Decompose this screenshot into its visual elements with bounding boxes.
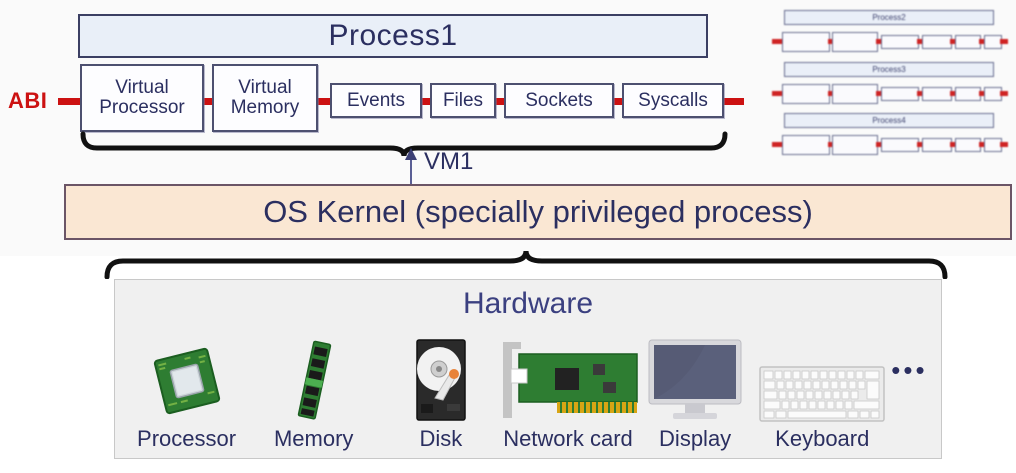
mini-component <box>881 35 919 49</box>
mini-process-row <box>772 83 1006 105</box>
hard-disk-icon <box>407 336 475 422</box>
mini-component <box>832 32 878 52</box>
hardware-item-display[interactable]: Display <box>635 336 755 452</box>
mini-component <box>832 84 878 104</box>
component-label: Virtual Memory <box>231 78 300 118</box>
cpu-chip-icon <box>146 336 228 422</box>
hardware-label: Disk <box>419 426 462 452</box>
os-kernel-bar[interactable]: OS Kernel (specially privileged process) <box>64 184 1012 240</box>
component-label-line2: Memory <box>231 97 300 118</box>
more-devices-ellipsis: ••• <box>889 355 929 386</box>
hardware-item-list: Processor <box>123 328 933 452</box>
mini-process-title: Process3 <box>784 62 994 77</box>
mini-component <box>881 138 919 152</box>
mini-process-title: Process2 <box>784 10 994 25</box>
mini-component <box>922 35 952 49</box>
hardware-item-processor[interactable]: Processor <box>127 336 247 452</box>
mini-component <box>782 32 830 52</box>
hardware-title: Hardware <box>115 287 941 321</box>
network-card-icon <box>493 336 643 422</box>
mini-component <box>955 35 981 49</box>
mini-process-row <box>772 134 1006 156</box>
mini-component <box>832 135 878 155</box>
diagram-canvas: Process1 ABI Virtual Processor Virtual M… <box>0 0 1016 473</box>
hardware-brace <box>104 249 948 279</box>
hardware-item-memory[interactable]: Memory <box>254 336 374 452</box>
mini-bus-segment <box>1000 39 1008 44</box>
component-events[interactable]: Events <box>330 83 422 118</box>
hardware-item-disk[interactable]: Disk <box>381 336 501 452</box>
vm1-arrow-icon <box>400 148 422 188</box>
component-sockets[interactable]: Sockets <box>504 83 614 118</box>
mini-component <box>922 87 952 101</box>
vm1-label: VM1 <box>424 148 473 176</box>
keyboard-icon <box>759 336 885 422</box>
monitor-icon <box>645 336 745 422</box>
component-syscalls[interactable]: Syscalls <box>622 83 724 118</box>
abi-label: ABI <box>8 88 47 114</box>
mini-process-4[interactable]: Process4 <box>772 113 1006 159</box>
mini-component <box>782 84 830 104</box>
component-label-line2: Processor <box>99 97 185 118</box>
hardware-label: Display <box>659 426 731 452</box>
mini-component <box>955 87 981 101</box>
mini-process-title: Process4 <box>784 113 994 128</box>
mini-component <box>922 138 952 152</box>
component-label-line1: Virtual <box>115 77 169 98</box>
hardware-label: Keyboard <box>775 426 869 452</box>
ram-stick-icon <box>273 336 355 422</box>
mini-bus-segment <box>1000 91 1008 96</box>
component-files[interactable]: Files <box>430 83 496 118</box>
hardware-label: Memory <box>274 426 353 452</box>
hardware-label: Network card <box>503 426 633 452</box>
component-virtual-memory[interactable]: Virtual Memory <box>212 64 318 132</box>
mini-component <box>881 87 919 101</box>
mini-process-2[interactable]: Process2 <box>772 10 1006 56</box>
mini-component <box>782 135 830 155</box>
hardware-item-keyboard[interactable]: Keyboard <box>762 336 882 452</box>
hardware-item-network-card[interactable]: Network card <box>508 336 628 452</box>
hardware-panel: Hardware <box>114 279 942 459</box>
mini-bus-segment <box>1000 142 1008 147</box>
process1-title-bar: Process1 <box>78 14 708 58</box>
component-virtual-processor[interactable]: Virtual Processor <box>80 64 204 132</box>
component-label-line1: Virtual <box>238 77 292 98</box>
component-label: Virtual Processor <box>99 78 185 118</box>
mini-process-row <box>772 31 1006 53</box>
mini-component <box>955 138 981 152</box>
mini-process-3[interactable]: Process3 <box>772 62 1006 108</box>
hardware-label: Processor <box>137 426 236 452</box>
